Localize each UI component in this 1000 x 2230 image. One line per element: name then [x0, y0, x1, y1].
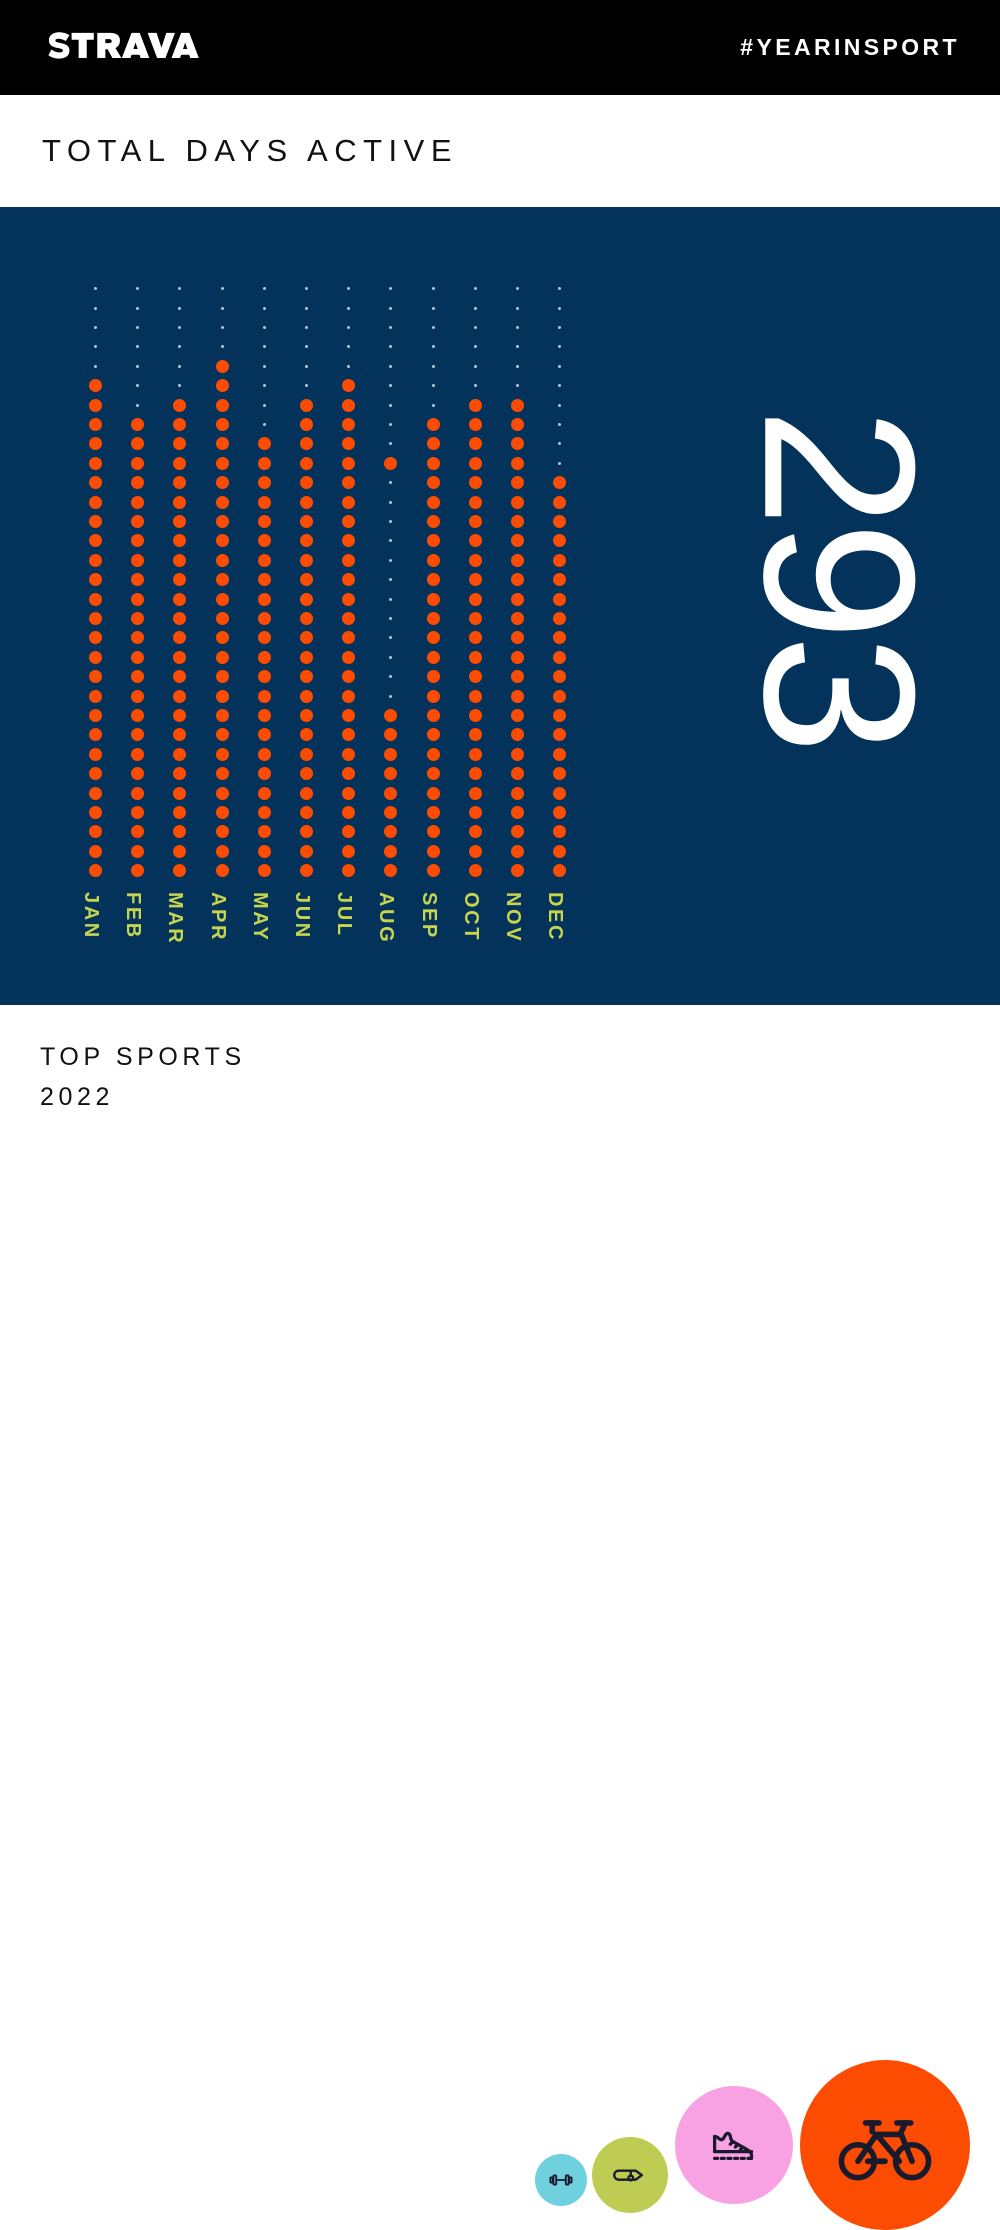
day-cell [86, 551, 105, 570]
day-cell [297, 376, 316, 395]
day-cell [381, 745, 400, 764]
inactive-day-dot [305, 307, 308, 310]
day-cell [255, 686, 274, 705]
active-day-dot [342, 612, 355, 625]
active-day-dot [300, 534, 313, 547]
active-day-dot [173, 728, 186, 741]
day-cell [381, 298, 400, 317]
day-cell [550, 667, 569, 686]
day-cell [466, 531, 485, 550]
day-cell [170, 822, 189, 841]
page-title: TOTAL DAYS ACTIVE [42, 133, 458, 169]
day-cell [550, 395, 569, 414]
active-day-dot [89, 748, 102, 761]
day-cell [550, 764, 569, 783]
active-day-dot [384, 787, 397, 800]
day-cell [466, 512, 485, 531]
day-cell [170, 531, 189, 550]
day-cell [213, 725, 232, 744]
day-cell [339, 822, 358, 841]
day-cell [297, 318, 316, 337]
day-cell [86, 686, 105, 705]
day-cell [381, 842, 400, 861]
day-cell [466, 570, 485, 589]
active-day-dot [511, 728, 524, 741]
inactive-day-dot [136, 384, 139, 387]
active-day-dot [469, 709, 482, 722]
active-day-dot [342, 651, 355, 664]
day-cell [424, 570, 443, 589]
day-cell [339, 803, 358, 822]
day-cell [508, 570, 527, 589]
inactive-day-dot [389, 520, 392, 523]
active-day-dot [427, 534, 440, 547]
inactive-day-dot [94, 326, 97, 329]
day-cell [508, 764, 527, 783]
day-cell [170, 415, 189, 434]
day-cell [508, 298, 527, 317]
day-cell [550, 415, 569, 434]
active-day-dot [173, 573, 186, 586]
active-day-dot [553, 748, 566, 761]
active-day-dot [258, 631, 271, 644]
inactive-day-dot [347, 365, 350, 368]
active-day-dot [553, 709, 566, 722]
running-shoe-icon [703, 2114, 765, 2176]
day-cell [128, 395, 147, 414]
day-cell [339, 492, 358, 511]
day-cell [213, 783, 232, 802]
active-day-dot [427, 670, 440, 683]
active-day-dot [300, 748, 313, 761]
day-cell [550, 337, 569, 356]
active-day-dot [511, 825, 524, 838]
inactive-day-dot [389, 501, 392, 504]
day-cell [170, 783, 189, 802]
day-cell [466, 337, 485, 356]
inactive-day-dot [432, 326, 435, 329]
active-day-dot [131, 437, 144, 450]
day-cell [550, 531, 569, 550]
active-day-dot [553, 806, 566, 819]
inactive-day-dot [347, 326, 350, 329]
active-day-dot [173, 534, 186, 547]
inactive-day-dot [178, 287, 181, 290]
active-day-dot [427, 418, 440, 431]
day-cell [213, 706, 232, 725]
day-cell [466, 395, 485, 414]
inactive-day-dot [263, 423, 266, 426]
inactive-day-dot [263, 404, 266, 407]
day-cell [128, 609, 147, 628]
inactive-day-dot [221, 287, 224, 290]
active-day-dot [469, 690, 482, 703]
active-day-dot [173, 709, 186, 722]
day-cell [213, 686, 232, 705]
day-cell [255, 725, 274, 744]
day-cell [381, 512, 400, 531]
day-cell [550, 648, 569, 667]
active-day-dot [511, 554, 524, 567]
active-day-dot [89, 728, 102, 741]
day-cell [466, 415, 485, 434]
inactive-day-dot [516, 307, 519, 310]
day-cell [339, 842, 358, 861]
active-day-dot [469, 728, 482, 741]
active-day-dot [173, 437, 186, 450]
day-cell [381, 764, 400, 783]
day-cell [424, 783, 443, 802]
active-day-dot [427, 845, 440, 858]
inactive-day-dot [263, 307, 266, 310]
active-day-dot [89, 534, 102, 547]
day-cell [170, 803, 189, 822]
day-cell [86, 861, 105, 880]
day-cell [550, 706, 569, 725]
sport-bubble-yoga[interactable] [592, 2137, 668, 2213]
day-cell [381, 648, 400, 667]
day-cell [170, 706, 189, 725]
day-cell [213, 803, 232, 822]
day-cell [213, 473, 232, 492]
active-day-dot [89, 554, 102, 567]
day-cell [86, 395, 105, 414]
active-day-dot [216, 379, 229, 392]
day-cell [339, 415, 358, 434]
day-cell [508, 512, 527, 531]
active-day-dot [300, 806, 313, 819]
active-day-dot [173, 825, 186, 838]
day-cell [381, 337, 400, 356]
day-cell [339, 473, 358, 492]
day-cell [297, 764, 316, 783]
day-cell [255, 337, 274, 356]
day-cell [297, 570, 316, 589]
active-day-dot [511, 787, 524, 800]
active-day-dot [427, 612, 440, 625]
month-label: APR [206, 892, 229, 942]
active-day-dot [553, 787, 566, 800]
active-day-dot [511, 534, 524, 547]
day-cell [255, 318, 274, 337]
day-cell [170, 570, 189, 589]
day-cell [339, 648, 358, 667]
day-cell [508, 531, 527, 550]
day-cell [255, 609, 274, 628]
day-cell [128, 842, 147, 861]
day-cell [424, 648, 443, 667]
day-cell [424, 609, 443, 628]
day-cell [424, 279, 443, 298]
day-cell [339, 376, 358, 395]
day-cell [86, 337, 105, 356]
day-cell [297, 395, 316, 414]
active-day-dot [342, 437, 355, 450]
day-cell [86, 318, 105, 337]
active-day-dot [553, 845, 566, 858]
active-day-dot [511, 864, 524, 877]
day-cell [297, 415, 316, 434]
day-cell [297, 357, 316, 376]
day-cell [170, 454, 189, 473]
day-cell [466, 376, 485, 395]
inactive-day-dot [389, 442, 392, 445]
active-day-dot [469, 399, 482, 412]
active-day-dot [553, 612, 566, 625]
inactive-day-dot [263, 287, 266, 290]
active-day-dot [258, 612, 271, 625]
day-cell [424, 357, 443, 376]
inactive-day-dot [432, 384, 435, 387]
active-day-dot [553, 670, 566, 683]
day-cell [550, 298, 569, 317]
day-cell [170, 628, 189, 647]
active-day-dot [216, 728, 229, 741]
month-column [213, 279, 232, 880]
day-cell [213, 570, 232, 589]
day-cell [466, 783, 485, 802]
day-cell [86, 492, 105, 511]
active-day-dot [89, 418, 102, 431]
active-day-dot [173, 593, 186, 606]
day-cell [550, 376, 569, 395]
active-day-dot [384, 748, 397, 761]
day-cell [255, 415, 274, 434]
inactive-day-dot [558, 462, 561, 465]
active-day-dot [300, 496, 313, 509]
day-cell [128, 570, 147, 589]
active-day-dot [216, 690, 229, 703]
active-day-dot [258, 864, 271, 877]
day-cell [255, 648, 274, 667]
day-cell [170, 648, 189, 667]
day-cell [128, 434, 147, 453]
total-days-number: 293 [741, 408, 939, 749]
day-cell [297, 298, 316, 317]
day-cell [213, 337, 232, 356]
bicycle-icon [833, 2093, 937, 2197]
day-cell [170, 337, 189, 356]
day-cell [86, 725, 105, 744]
active-day-dot [300, 709, 313, 722]
day-cell [424, 512, 443, 531]
active-day-dot [216, 864, 229, 877]
day-cell [297, 686, 316, 705]
active-day-dot [342, 573, 355, 586]
active-day-dot [300, 864, 313, 877]
active-day-dot [173, 806, 186, 819]
inactive-day-dot [389, 384, 392, 387]
active-day-dot [553, 631, 566, 644]
day-cell [86, 279, 105, 298]
day-cell [170, 357, 189, 376]
month-label: MAY [248, 892, 271, 942]
day-cell [86, 570, 105, 589]
active-day-dot [173, 787, 186, 800]
month-label: FEB [121, 892, 144, 940]
day-cell [466, 764, 485, 783]
day-cell [424, 803, 443, 822]
day-cell [381, 395, 400, 414]
day-cell [128, 648, 147, 667]
inactive-day-dot [263, 365, 266, 368]
day-cell [86, 376, 105, 395]
active-day-dot [511, 399, 524, 412]
day-cell [213, 648, 232, 667]
day-cell [381, 609, 400, 628]
active-day-dot [173, 670, 186, 683]
day-cell [424, 531, 443, 550]
day-cell [424, 492, 443, 511]
active-day-dot [300, 457, 313, 470]
active-day-dot [173, 651, 186, 664]
active-day-dot [89, 612, 102, 625]
month-column [255, 279, 274, 880]
day-cell [381, 415, 400, 434]
top-sports-year: 2022 [40, 1083, 114, 1112]
active-day-dot [89, 651, 102, 664]
active-day-dot [258, 515, 271, 528]
inactive-day-dot [221, 345, 224, 348]
inactive-day-dot [432, 365, 435, 368]
day-cell [550, 473, 569, 492]
day-cell [550, 725, 569, 744]
app-header: #YEARINSPORT [0, 0, 1000, 95]
active-day-dot [216, 767, 229, 780]
day-cell [466, 473, 485, 492]
active-day-dot [511, 670, 524, 683]
day-cell [213, 298, 232, 317]
inactive-day-dot [389, 598, 392, 601]
day-cell [170, 473, 189, 492]
day-cell [381, 706, 400, 725]
active-day-dot [173, 864, 186, 877]
active-day-dot [511, 767, 524, 780]
active-day-dot [384, 767, 397, 780]
day-cell [170, 764, 189, 783]
active-day-dot [511, 515, 524, 528]
active-day-dot [173, 767, 186, 780]
day-cell [466, 822, 485, 841]
sport-bubble-run[interactable] [675, 2086, 793, 2204]
inactive-day-dot [558, 345, 561, 348]
inactive-day-dot [178, 345, 181, 348]
day-cell [297, 706, 316, 725]
day-cell [381, 589, 400, 608]
day-cell [466, 298, 485, 317]
day-cell [424, 551, 443, 570]
day-cell [424, 822, 443, 841]
inactive-day-dot [136, 345, 139, 348]
active-day-dot [300, 476, 313, 489]
day-cell [339, 764, 358, 783]
inactive-day-dot [389, 423, 392, 426]
inactive-day-dot [389, 287, 392, 290]
inactive-day-dot [558, 307, 561, 310]
day-cell [339, 570, 358, 589]
day-cell [255, 706, 274, 725]
day-cell [86, 531, 105, 550]
day-cell [508, 279, 527, 298]
active-day-dot [469, 767, 482, 780]
active-day-dot [258, 806, 271, 819]
active-day-dot [342, 593, 355, 606]
day-cell [424, 706, 443, 725]
active-day-dot [173, 612, 186, 625]
day-cell [550, 822, 569, 841]
active-day-dot [427, 515, 440, 528]
day-cell [550, 570, 569, 589]
day-cell [128, 415, 147, 434]
active-day-dot [342, 631, 355, 644]
sport-bubble-weight-training[interactable] [535, 2154, 587, 2206]
day-cell [466, 725, 485, 744]
active-day-dot [131, 806, 144, 819]
day-cell [508, 395, 527, 414]
sport-bubble-ride[interactable] [800, 2060, 970, 2230]
active-day-dot [469, 864, 482, 877]
month-column [508, 279, 527, 880]
day-cell [297, 473, 316, 492]
active-day-dot [342, 806, 355, 819]
active-day-dot [89, 631, 102, 644]
day-cell [466, 667, 485, 686]
inactive-day-dot [558, 326, 561, 329]
active-day-dot [342, 515, 355, 528]
day-cell [381, 570, 400, 589]
active-day-dot [216, 612, 229, 625]
active-day-dot [342, 476, 355, 489]
active-day-dot [173, 476, 186, 489]
active-day-dot [300, 767, 313, 780]
day-cell [466, 706, 485, 725]
active-day-dot [89, 767, 102, 780]
inactive-day-dot [389, 656, 392, 659]
inactive-day-dot [305, 287, 308, 290]
inactive-day-dot [389, 326, 392, 329]
active-day-dot [89, 593, 102, 606]
day-cell [466, 492, 485, 511]
active-day-dot [427, 631, 440, 644]
inactive-day-dot [178, 365, 181, 368]
active-day-dot [427, 748, 440, 761]
day-cell [508, 589, 527, 608]
inactive-day-dot [263, 326, 266, 329]
day-cell [466, 648, 485, 667]
active-day-dot [89, 457, 102, 470]
active-day-dot [216, 631, 229, 644]
day-cell [466, 745, 485, 764]
day-cell [170, 551, 189, 570]
day-cell [86, 512, 105, 531]
active-day-dot [511, 845, 524, 858]
active-day-dot [89, 709, 102, 722]
month-label: JUN [290, 892, 313, 940]
active-day-dot [553, 476, 566, 489]
active-day-dot [511, 496, 524, 509]
day-cell [424, 298, 443, 317]
active-day-dot [173, 631, 186, 644]
day-cell [128, 589, 147, 608]
inactive-day-dot [389, 307, 392, 310]
active-day-dot [258, 573, 271, 586]
month-column [466, 279, 485, 880]
active-day-dot [427, 437, 440, 450]
active-day-dot [131, 457, 144, 470]
active-day-dot [553, 573, 566, 586]
day-cell [339, 589, 358, 608]
inactive-day-dot [558, 384, 561, 387]
